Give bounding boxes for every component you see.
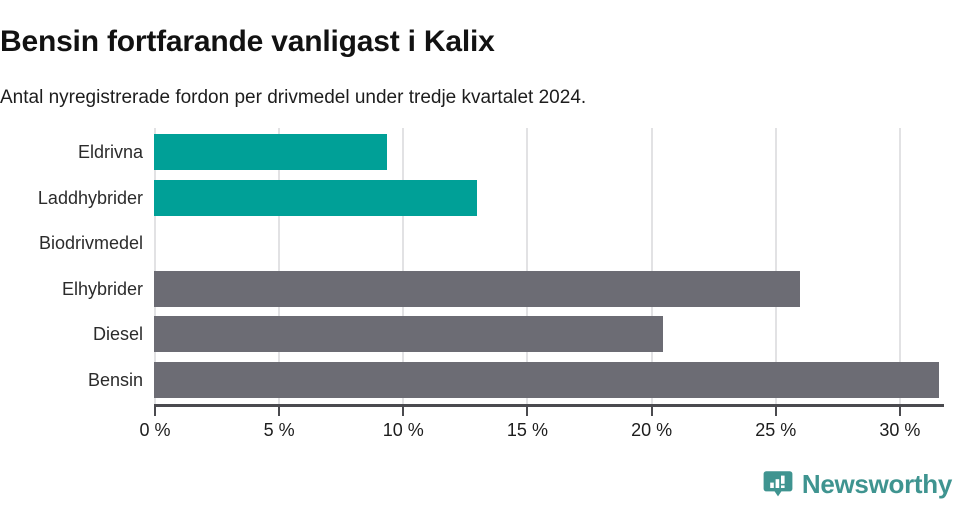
page-subtitle: Antal nyregistrerade fordon per drivmede… — [0, 86, 940, 110]
tick-mark-20 — [651, 407, 653, 416]
tick-mark-5 — [278, 407, 280, 416]
bar-eldrivna[interactable] — [154, 134, 387, 170]
brand-footer[interactable]: Newsworthy — [763, 469, 952, 499]
tick-label-10: 10 % — [383, 420, 424, 441]
tick-label-25: 25 % — [755, 420, 796, 441]
bar-row: Diesel — [154, 316, 950, 352]
bar-row: Biodrivmedel — [154, 225, 950, 261]
tick-label-20: 20 % — [631, 420, 672, 441]
chart-page: Bensin fortfarande vanligast i Kalix Ant… — [0, 0, 960, 505]
bar-row: Laddhybrider — [154, 180, 950, 216]
x-axis-line — [154, 404, 944, 407]
category-label-laddhybrider: Laddhybrider — [38, 180, 143, 216]
bar-row: Elhybrider — [154, 271, 950, 307]
bar-bensin[interactable] — [154, 362, 939, 398]
category-label-diesel: Diesel — [93, 316, 143, 352]
category-label-eldrivna: Eldrivna — [78, 134, 143, 170]
bar-series: EldrivnaLaddhybriderBiodrivmedelElhybrid… — [154, 128, 950, 405]
category-label-biodrivmedel: Biodrivmedel — [39, 225, 143, 261]
category-label-elhybrider: Elhybrider — [62, 271, 143, 307]
bar-elhybrider[interactable] — [154, 271, 800, 307]
tick-mark-0 — [154, 407, 156, 416]
tick-mark-25 — [775, 407, 777, 416]
tick-label-15: 15 % — [507, 420, 548, 441]
tick-mark-10 — [402, 407, 404, 416]
brand-wordmark: Newsworthy — [802, 469, 952, 499]
tick-mark-30 — [899, 407, 901, 416]
tick-label-0: 0 % — [139, 420, 170, 441]
tick-label-30: 30 % — [879, 420, 920, 441]
bar-chart-pin-icon — [763, 469, 793, 499]
bar-laddhybrider[interactable] — [154, 180, 477, 216]
plot-area: EldrivnaLaddhybriderBiodrivmedelElhybrid… — [154, 128, 950, 405]
bar-row: Bensin — [154, 362, 950, 398]
bar-row: Eldrivna — [154, 134, 950, 170]
category-label-bensin: Bensin — [88, 362, 143, 398]
bar-diesel[interactable] — [154, 316, 663, 352]
page-title: Bensin fortfarande vanligast i Kalix — [0, 24, 940, 60]
tick-mark-15 — [526, 407, 528, 416]
tick-label-5: 5 % — [264, 420, 295, 441]
